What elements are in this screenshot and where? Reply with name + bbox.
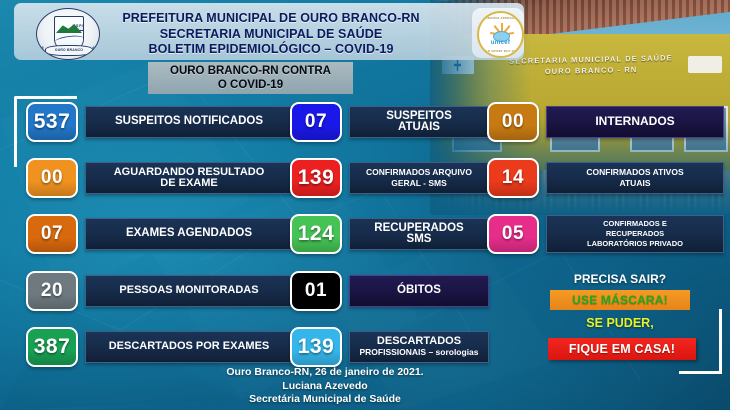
stat-label: RECUPERADOSSMS [349,218,489,250]
advice-use-mask: USE MÁSCARA! [550,290,690,310]
stat-row: 537SUSPEITOS NOTIFICADOS [26,102,293,142]
advice-stay-home: FIQUE EM CASA! [548,338,696,360]
advice-title: PRECISA SAIR? [545,272,695,286]
stat-label: SUSPEITOS NOTIFICADOS [85,106,293,138]
footer-date: Ouro Branco-RN, 26 de janeiro de 2021. [150,366,500,380]
unicef-seal-icon: MUNICÍPIO APROVADO unicef SELO UNICEF 20… [472,8,524,58]
stat-value-chip: 20 [26,271,78,311]
stat-label: AGUARDANDO RESULTADODE EXAME [85,162,293,194]
stat-label: CONFIRMADOS ARQUIVOGERAL - SMS [349,162,489,194]
stat-value-chip: 139 [290,158,342,198]
stat-row: 139DESCARTADOSPROFISSIONAIS – sorologias [290,327,489,367]
stat-row: 05CONFIRMADOS ERECUPERADOSLABORATÓRIOS P… [487,214,724,254]
stat-value-chip: 05 [487,214,539,254]
stat-row: 20PESSOAS MONITORADAS [26,271,293,311]
stat-value-chip: 14 [487,158,539,198]
boletim-poster: SECRETARIA MUNICIPAL DE SAÚDE OURO BRANC… [0,0,730,410]
stat-value-chip: 387 [26,327,78,367]
stat-label: PESSOAS MONITORADAS [85,275,293,307]
stat-row: 01ÓBITOS [290,271,489,311]
stat-row: 07EXAMES AGENDADOS [26,214,293,254]
stat-value-chip: 07 [290,102,342,142]
stat-label: DESCARTADOSPROFISSIONAIS – sorologias [349,331,489,363]
municipal-coat-of-arms-icon: S P B 19 63 OURO BRANCO [36,8,100,60]
stat-label: DESCARTADOS POR EXAMES [85,331,293,363]
stat-value-chip: 00 [26,158,78,198]
stat-label: EXAMES AGENDADOS [85,218,293,250]
stat-label: ÓBITOS [349,275,489,307]
stat-row: 387DESCARTADOS POR EXAMES [26,327,293,367]
stat-row: 124RECUPERADOSSMS [290,214,489,254]
stat-row: 00AGUARDANDO RESULTADODE EXAME [26,158,293,198]
advice-if-possible: SE PUDER, [545,316,695,330]
stat-row: 07SUSPEITOSATUAIS [290,102,489,142]
page-title: PREFEITURA MUNICIPAL DE OURO BRANCO-RN S… [106,11,436,58]
stat-value-chip: 07 [26,214,78,254]
stat-label: INTERNADOS [546,106,724,138]
stat-row: 00INTERNADOS [487,102,724,142]
footer-name: Luciana Azevedo [150,380,500,394]
footer-signature: Ouro Branco-RN, 26 de janeiro de 2021. L… [150,366,500,407]
footer-role: Secretária Municipal de Saúde [150,393,500,407]
campaign-banner: OURO BRANCO-RN CONTRA O COVID-19 [148,62,353,94]
stat-value-chip: 124 [290,214,342,254]
stat-label: CONFIRMADOS ERECUPERADOSLABORATÓRIOS PRI… [546,215,724,253]
stat-label: CONFIRMADOS ATIVOSATUAIS [546,162,724,194]
stat-value-chip: 00 [487,102,539,142]
stat-value-chip: 139 [290,327,342,367]
header-band: S P B 19 63 OURO BRANCO PREFEITURA MUNIC… [14,3,524,60]
stat-value-chip: 537 [26,102,78,142]
stat-row: 14CONFIRMADOS ATIVOSATUAIS [487,158,724,198]
stat-label: SUSPEITOSATUAIS [349,106,489,138]
stat-value-chip: 01 [290,271,342,311]
stat-row: 139CONFIRMADOS ARQUIVOGERAL - SMS [290,158,489,198]
